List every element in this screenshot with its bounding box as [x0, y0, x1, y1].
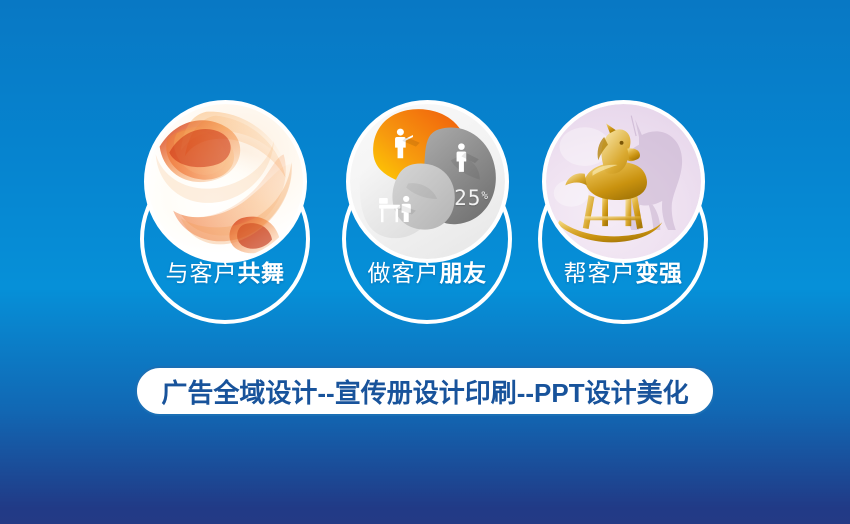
feature-caption-plain: 做客户	[368, 260, 440, 286]
percentage-badge: 25%	[454, 186, 489, 210]
feature-card-make-client-stronger[interactable]: 帮客户变强	[533, 96, 713, 336]
feature-caption-strong: 共舞	[238, 260, 285, 286]
services-banner-text: 广告全域设计--宣传册设计印刷--PPT设计美化	[161, 373, 688, 410]
feature-card-dance-with-client[interactable]: 与客户共舞	[135, 96, 315, 336]
feature-image-disc: 25%	[346, 100, 509, 263]
infographic-blobs-image: 25%	[350, 104, 505, 259]
feature-caption-strong: 朋友	[440, 260, 487, 286]
feature-caption: 做客户朋友	[337, 258, 517, 288]
feature-caption-plain: 帮客户	[564, 260, 636, 286]
feature-image-disc	[542, 100, 705, 263]
feature-caption-strong: 变强	[636, 260, 683, 286]
feature-caption: 与客户共舞	[135, 258, 315, 288]
feature-image-disc	[144, 100, 307, 263]
orange-smoke-swirl-image	[148, 104, 303, 259]
feature-caption: 帮客户变强	[533, 258, 713, 288]
feature-card-be-client-friend[interactable]: 25% 做客户朋友	[337, 96, 517, 336]
promo-poster: 与客户共舞	[0, 0, 850, 524]
feature-caption-plain: 与客户	[166, 260, 238, 286]
services-banner[interactable]: 广告全域设计--宣传册设计印刷--PPT设计美化	[135, 366, 715, 416]
golden-rocking-horse-image	[546, 104, 701, 259]
